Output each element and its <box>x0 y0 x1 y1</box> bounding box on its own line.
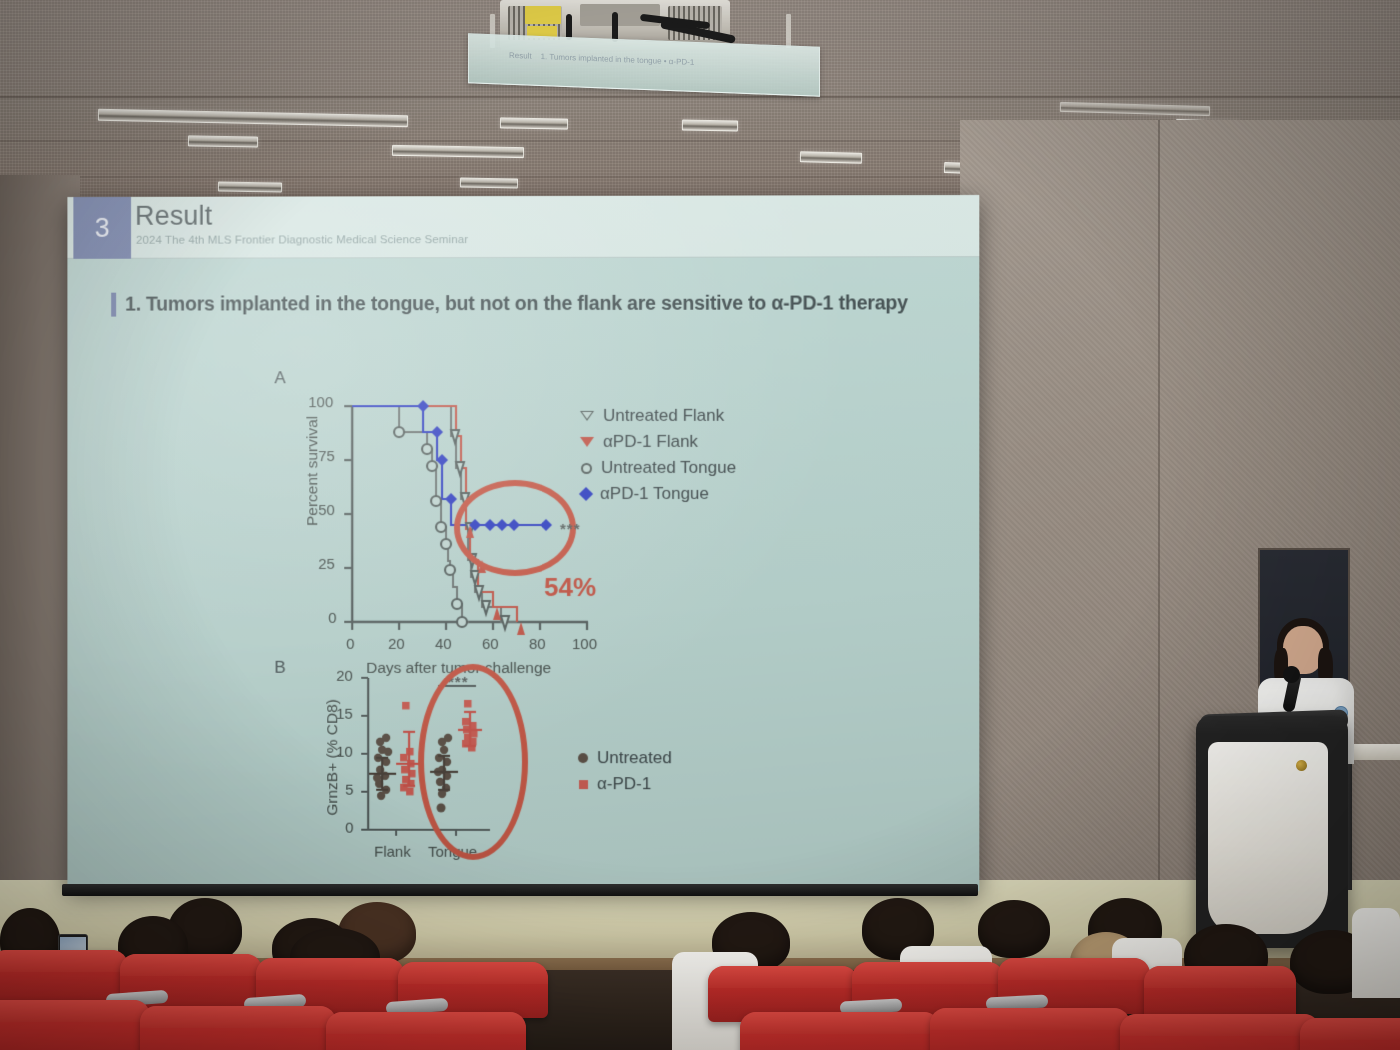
auditorium-seat <box>1300 1018 1400 1050</box>
ceiling-light <box>500 117 568 129</box>
slide-subtitle: 2024 The 4th MLS Frontier Diagnostic Med… <box>136 234 468 247</box>
heading-accent-bar <box>111 293 116 317</box>
panel-a-xtick-60: 60 <box>482 636 499 653</box>
panel-a-xtick-100: 100 <box>572 636 597 653</box>
projector-mount <box>786 14 791 48</box>
legend-label: α-PD-1 <box>597 774 651 794</box>
seat-backrest <box>0 1000 150 1022</box>
panel-b-ytick-0: 0 <box>345 820 353 837</box>
ceiling-seam <box>0 96 1400 98</box>
panel-a-xtick-80: 80 <box>529 636 546 653</box>
triangle-down-open-icon <box>580 411 594 421</box>
auditorium-seat <box>930 1008 1130 1050</box>
lectern-emblem <box>1296 760 1307 771</box>
panel-b-y-axis-title: GrnzB+ (% CD8) <box>324 699 342 816</box>
legend-label: αPD-1 Tongue <box>600 484 709 504</box>
projector-sticker <box>525 6 561 24</box>
auditorium-seat <box>740 1012 940 1050</box>
audience-lab-coat <box>1352 908 1400 998</box>
seat-backrest <box>708 966 858 988</box>
panel-a-ytick-100: 100 <box>308 394 333 411</box>
slide-title: Result <box>135 201 212 232</box>
legend-item-apd1-tongue: αPD-1 Tongue <box>581 484 709 504</box>
seat-backrest <box>852 962 1004 984</box>
dot-icon <box>578 753 588 763</box>
panel-b-ytick-5: 5 <box>345 782 353 799</box>
ceiling-light <box>682 120 738 132</box>
lectern <box>1196 716 1348 948</box>
slide-number-badge: 3 <box>73 197 131 259</box>
square-icon <box>579 780 588 789</box>
circle-open-icon <box>581 462 592 473</box>
seat-backrest <box>998 958 1150 980</box>
legend-label: Untreated <box>597 748 672 768</box>
panel-b-ytick-20: 20 <box>336 668 353 685</box>
legend-item-untreated-tongue: Untreated Tongue <box>581 458 736 478</box>
slide-heading: 1. Tumors implanted in the tongue, but n… <box>111 291 908 316</box>
lecture-hall-photo: Result 1. Tumors implanted in the tongue… <box>0 0 1400 1050</box>
ceiling-light <box>392 145 524 158</box>
panel-a-ytick-0: 0 <box>328 610 336 627</box>
auditorium-seat <box>0 1000 150 1050</box>
projection-screen: 3 Result 2024 The 4th MLS Frontier Diagn… <box>67 195 979 891</box>
panel-b-highlight-ellipse <box>418 664 528 860</box>
panel-a-xtick-20: 20 <box>388 636 405 653</box>
projector-cable <box>612 12 618 42</box>
ceiling-light <box>460 177 518 188</box>
seat-backrest <box>1144 966 1296 988</box>
legend-item-apd1: α-PD-1 <box>579 774 651 794</box>
wall-corner <box>1158 120 1160 910</box>
panel-a-percent-label: 54% <box>544 572 596 603</box>
slide-canvas: 3 Result 2024 The 4th MLS Frontier Diagn… <box>67 195 979 891</box>
seat-backrest <box>1120 1014 1320 1036</box>
ceiling-light <box>188 135 258 147</box>
legend-item-untreated: Untreated <box>578 748 672 768</box>
seat-backrest <box>740 1012 940 1034</box>
lectern-panel <box>1208 742 1328 934</box>
seat-backrest <box>930 1008 1130 1030</box>
slide-header: 3 Result 2024 The 4th MLS Frontier Diagn… <box>67 195 979 259</box>
seat-backrest <box>326 1012 526 1034</box>
legend-label: Untreated Tongue <box>601 458 736 478</box>
seat-backrest <box>0 950 128 972</box>
diamond-filled-icon <box>579 487 593 501</box>
ceiling-light <box>800 151 862 164</box>
legend-label: αPD-1 Flank <box>603 432 698 452</box>
seat-backrest <box>1300 1018 1400 1040</box>
seat-backrest <box>120 954 262 976</box>
seat-backrest <box>256 958 404 980</box>
microphone-head <box>1283 666 1300 683</box>
panel-a-xtick-40: 40 <box>435 636 452 653</box>
panel-a-xtick-0: 0 <box>346 636 354 653</box>
heading-text: 1. Tumors implanted in the tongue, but n… <box>125 292 908 316</box>
auditorium-seat <box>140 1006 336 1050</box>
panel-a-ytick-25: 25 <box>318 556 335 573</box>
auditorium-seat <box>326 1012 526 1050</box>
panel-b-xcat-flank: Flank <box>374 844 411 861</box>
auditorium-seat <box>1120 1014 1320 1050</box>
screen-bottom-bar <box>62 884 978 896</box>
ceiling-light <box>218 181 282 192</box>
triangle-up-filled-icon <box>580 437 594 447</box>
panel-a-y-axis-title: Percent survival <box>304 416 322 526</box>
panel-a-significance-stars: *** <box>560 521 581 538</box>
seat-backrest <box>140 1006 336 1028</box>
legend-item-untreated-flank: Untreated Flank <box>580 406 724 426</box>
legend-label: Untreated Flank <box>603 406 724 426</box>
seat-backrest <box>398 962 548 984</box>
legend-item-apd1-flank: αPD-1 Flank <box>580 432 698 452</box>
panel-a-highlight-ellipse <box>454 480 576 576</box>
